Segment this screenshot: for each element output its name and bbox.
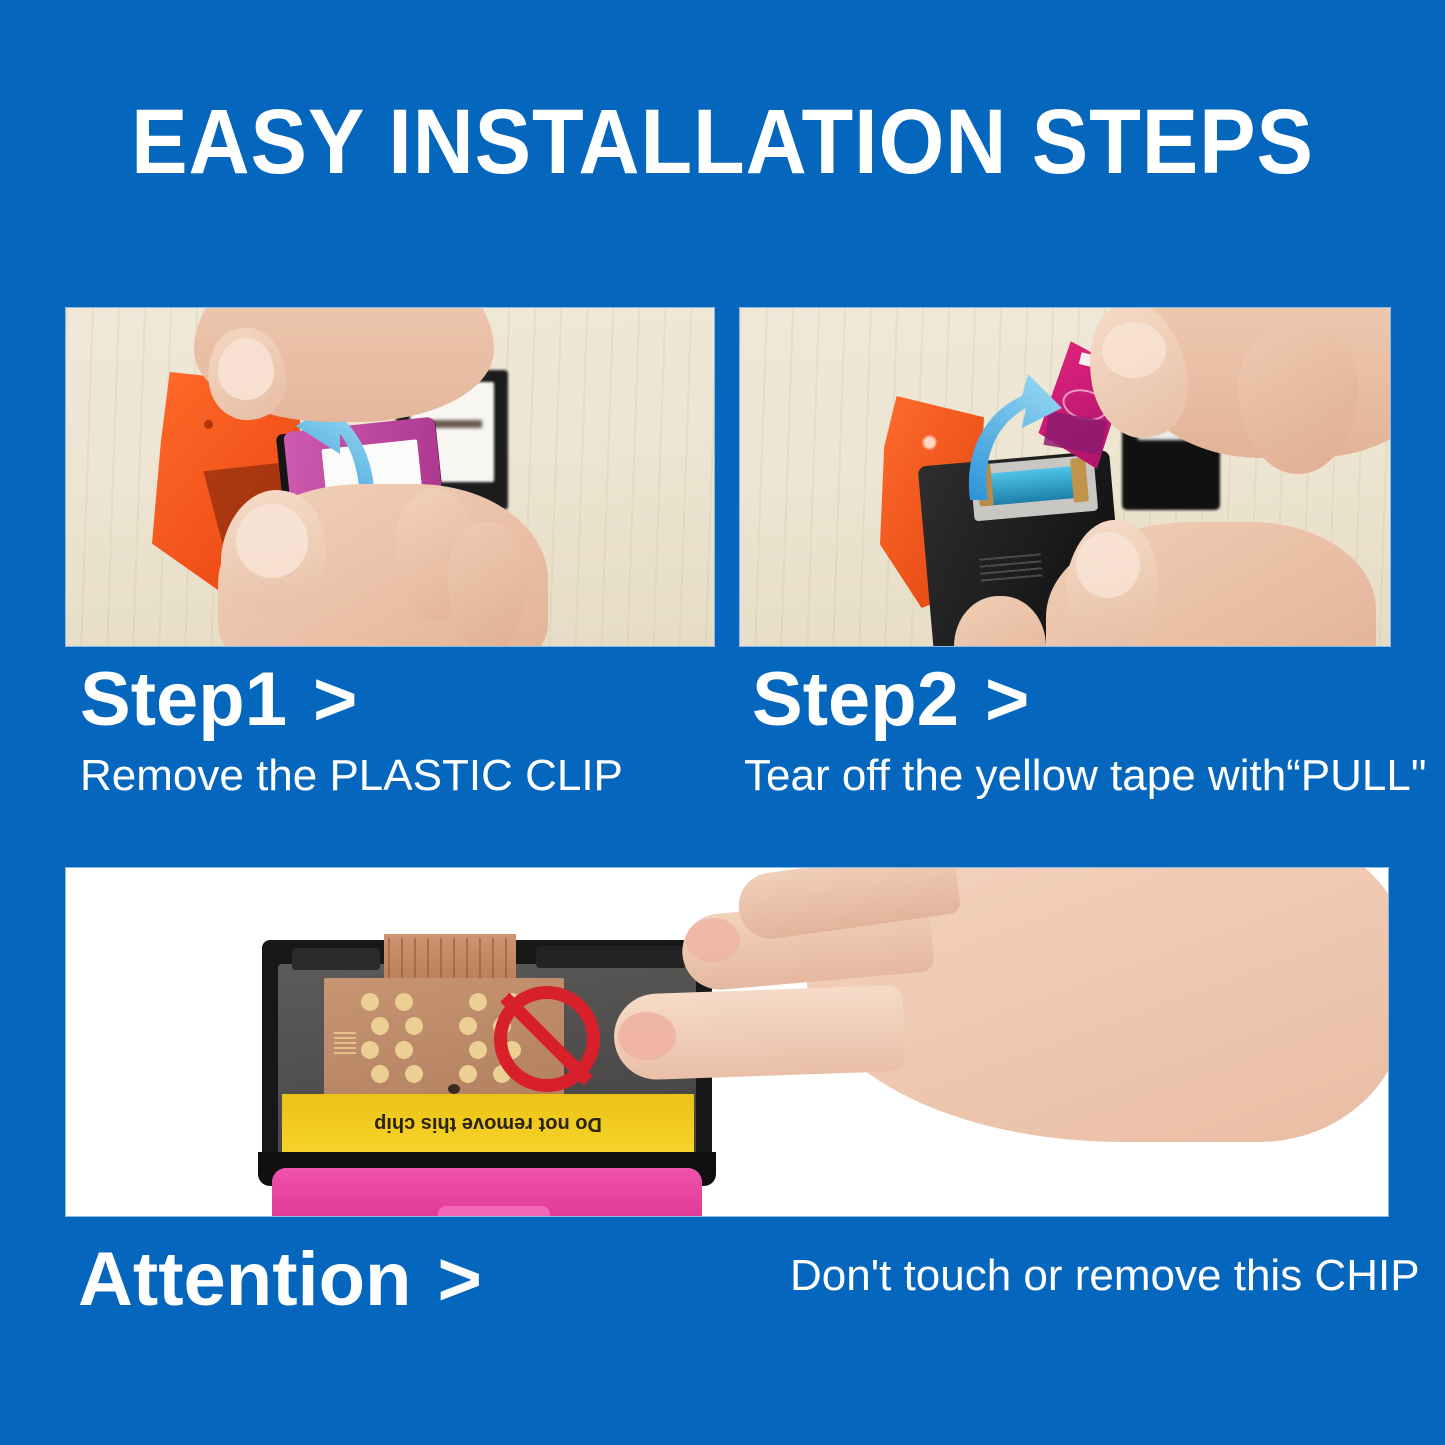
- chevron-right-icon: >: [411, 1240, 481, 1320]
- chip-hole: [448, 1084, 460, 1094]
- finger-2: [448, 522, 528, 646]
- chip-side-traces: [334, 1032, 356, 1056]
- photo-remove-plastic-clip: [66, 308, 714, 646]
- thumbnail-bottom: [236, 504, 308, 578]
- cartridge-vent-lines: [979, 553, 1043, 586]
- thumbnail-top: [218, 338, 274, 400]
- step2-heading: Step2>: [752, 660, 1029, 740]
- clip-hole: [204, 420, 213, 429]
- step1-heading-label: Step1: [80, 657, 287, 742]
- magenta-cartridge-tab: [438, 1206, 550, 1216]
- step1-description: Remove the PLASTIC CLIP: [80, 752, 623, 800]
- clip-highlight: [923, 436, 936, 449]
- attention-heading-label: Attention: [78, 1237, 411, 1322]
- attention-description: Don't touch or remove this CHIP: [790, 1252, 1420, 1300]
- photo-do-not-touch-chip: Don't remove this chip Do not remove thi…: [66, 868, 1388, 1216]
- yellow-warning-label: Do not remove this chip: [282, 1094, 694, 1154]
- page-title: EASY INSTALLATION STEPS: [58, 96, 1387, 188]
- yellow-warning-label-text: Do not remove this chip: [368, 1113, 608, 1135]
- attention-heading: Attention>: [78, 1240, 482, 1320]
- step2-heading-label: Step2: [752, 657, 959, 742]
- blue-arrow-up: [936, 352, 1066, 502]
- chevron-right-icon: >: [287, 660, 357, 740]
- step1-heading: Step1>: [80, 660, 357, 740]
- cartridge-top-slot-right: [536, 946, 686, 968]
- chevron-right-icon: >: [959, 660, 1029, 740]
- thumbnail-bottom: [1076, 532, 1140, 598]
- step2-description: Tear off the yellow tape with“PULL": [744, 752, 1427, 800]
- cartridge-top-slot-left: [292, 948, 380, 970]
- middle-fingernail: [686, 918, 740, 962]
- fingernail-pulling: [1102, 322, 1166, 378]
- photo-tear-off-tape: [740, 308, 1390, 646]
- index-fingernail: [618, 1012, 676, 1060]
